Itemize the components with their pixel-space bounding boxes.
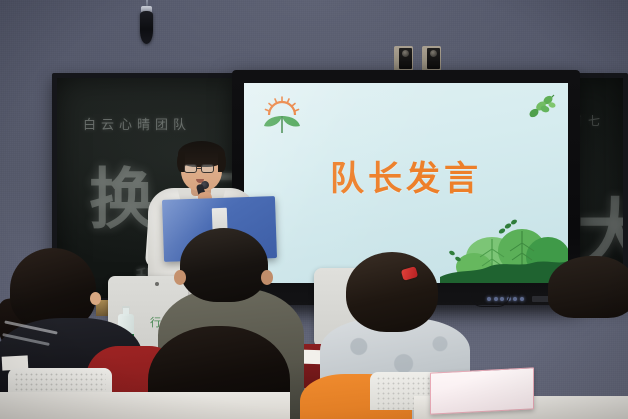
speaker-box [422,46,441,71]
audience-member-far-right [548,256,628,376]
hair [180,228,268,302]
chalk-heading-left: 白云心晴团队 [83,114,191,133]
leaf-sprig-icon [518,93,558,127]
speaker-dome [430,50,437,57]
eyeglasses-right-lens [201,164,214,173]
eyeglasses-bridge [197,168,201,169]
speaker-box [394,46,413,71]
control-dot[interactable] [520,297,524,301]
placard-text [431,382,533,387]
name-placard [430,367,534,414]
ear [90,292,101,305]
panel-cable [470,295,510,307]
classroom-scene: 白云心晴团队 习 换 程 第七 大 [0,0,628,419]
speaker-dome [402,50,409,57]
front-desk-left [0,392,290,419]
hair-side-right [218,152,226,172]
hair [346,252,438,332]
hair [548,256,628,318]
whiteboard-pin [155,282,159,286]
sunrise-leaf-logo-icon [260,95,304,135]
eyeglasses-left-lens [184,164,197,173]
ear-right [261,270,273,285]
control-dot[interactable] [513,297,517,301]
ear-left [174,270,186,285]
slide-title: 队长发言 [244,151,568,200]
mic-body [140,11,153,44]
